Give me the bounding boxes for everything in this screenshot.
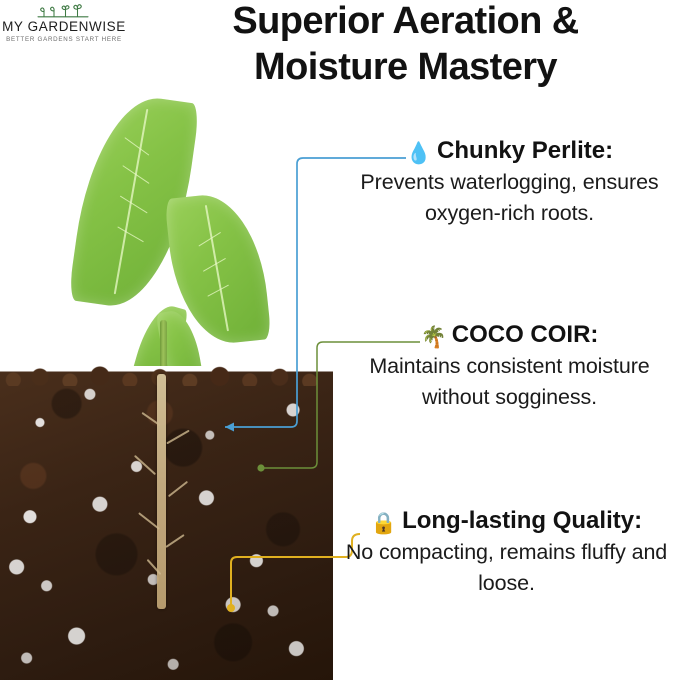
feature-heading-text: Chunky Perlite: xyxy=(437,137,613,164)
feature-block-perlite: 💧Chunky Perlite: Prevents waterlogging, … xyxy=(340,136,679,228)
feature-block-coco-coir: 🌴COCO COIR: Maintains consistent moistur… xyxy=(340,320,679,412)
feature-heading-text: Long-lasting Quality: xyxy=(402,507,642,534)
palm-tree-icon: 🌴 xyxy=(421,326,447,349)
feature-heading: 💧Chunky Perlite: xyxy=(340,136,679,167)
infographic-canvas: MY GARDENWISE BETTER GARDENS START HERE … xyxy=(0,0,679,680)
feature-body: Prevents waterlogging, ensures oxygen-ri… xyxy=(340,167,679,228)
feature-body: Maintains consistent moisture without so… xyxy=(340,351,679,412)
feature-heading-text: COCO COIR: xyxy=(452,321,599,348)
lock-icon: 🔒 xyxy=(371,512,397,535)
feature-block-quality: 🔒Long-lasting Quality: No compacting, re… xyxy=(334,506,679,598)
feature-heading: 🌴COCO COIR: xyxy=(340,320,679,351)
feature-body: No compacting, remains fluffy and loose. xyxy=(334,537,679,598)
feature-heading: 🔒Long-lasting Quality: xyxy=(334,506,679,537)
water-drop-icon: 💧 xyxy=(406,142,432,165)
